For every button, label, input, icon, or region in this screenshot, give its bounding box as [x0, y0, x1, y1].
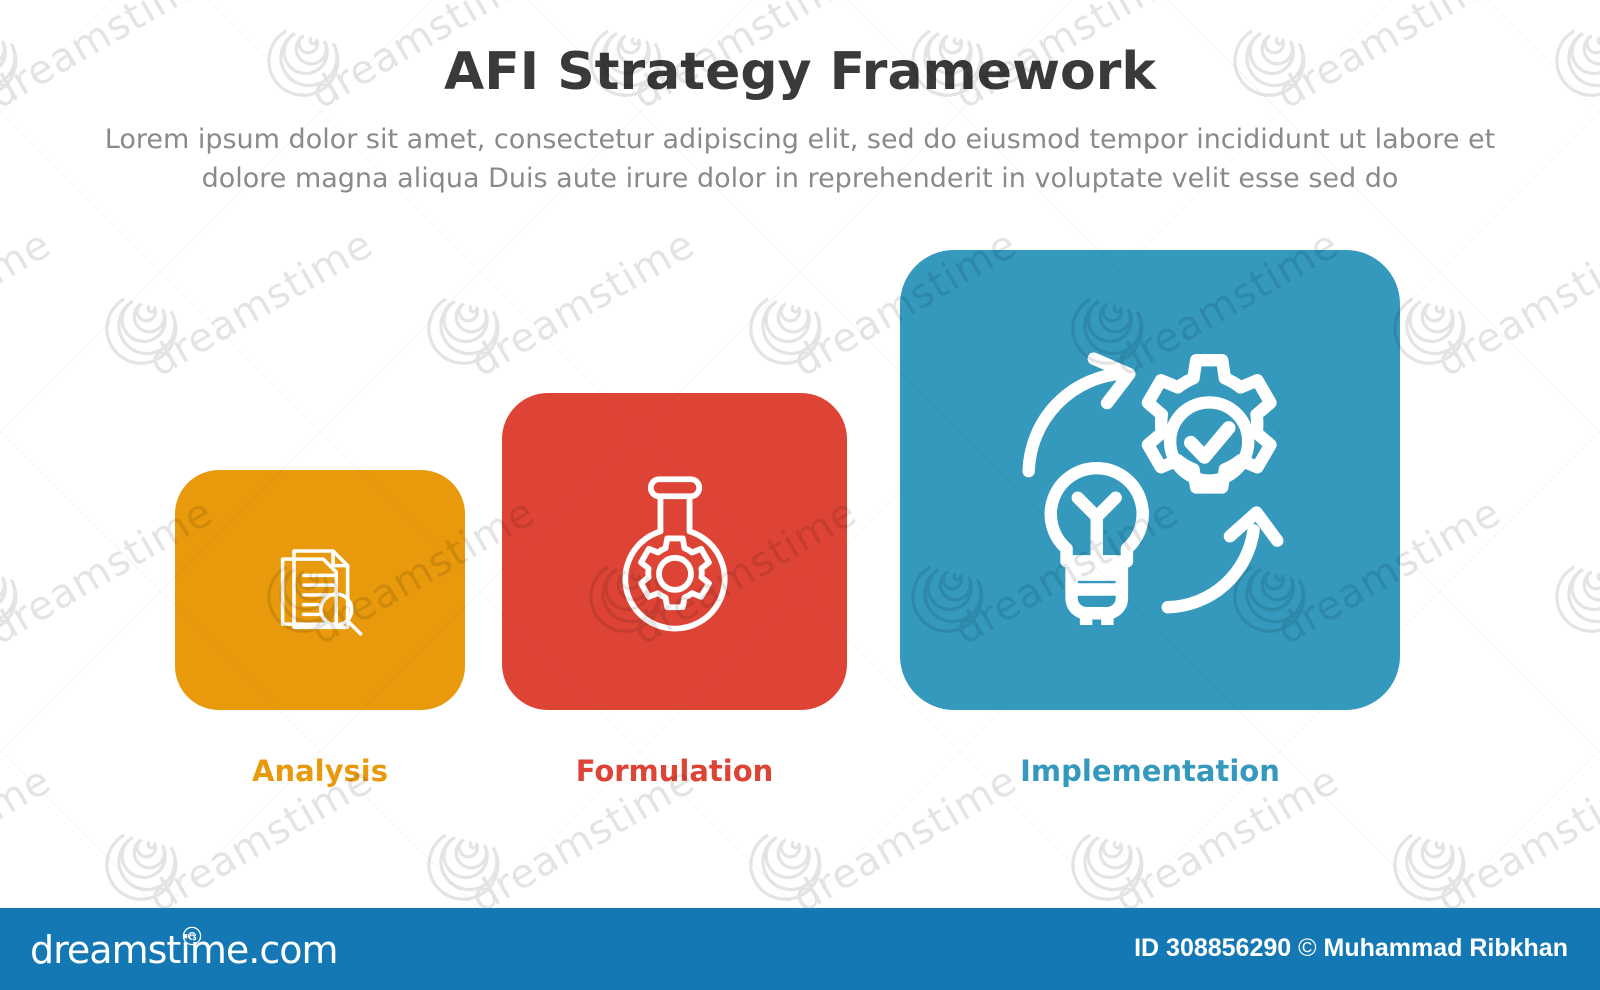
- document-magnifier-icon: [268, 538, 372, 642]
- step-implementation-box[interactable]: [900, 250, 1400, 710]
- step-analysis-label: Analysis: [175, 754, 465, 788]
- credit-line: ID 308856290 © Muhammad Ribkhan: [1134, 934, 1568, 963]
- footer-bar: dreamstime.com ID 308856290 © Muhammad R…: [0, 908, 1600, 990]
- step-implementation-label: Implementation: [900, 754, 1400, 788]
- copyright-icon: ©: [1298, 934, 1316, 962]
- infographic-canvas: AFI Strategy Framework Lorem ipsum dolor…: [0, 0, 1600, 990]
- dreamstime-logo[interactable]: dreamstime.com: [30, 924, 337, 976]
- flask-gear-icon: [607, 472, 743, 632]
- step-analysis-box[interactable]: [175, 470, 465, 710]
- credit-id: ID 308856290: [1134, 934, 1291, 962]
- header: AFI Strategy Framework Lorem ipsum dolor…: [0, 0, 1600, 198]
- step-formulation-label: Formulation: [502, 754, 847, 788]
- spiral-registered-icon: [182, 926, 202, 946]
- page-title: AFI Strategy Framework: [0, 0, 1600, 102]
- credit-author: Muhammad Ribkhan: [1324, 934, 1568, 962]
- lightbulb-gear-cycle-icon: [1000, 335, 1300, 625]
- step-implementation[interactable]: Implementation: [900, 250, 1400, 815]
- step-analysis[interactable]: Analysis: [175, 470, 465, 810]
- page-subtitle: Lorem ipsum dolor sit amet, consectetur …: [90, 102, 1510, 198]
- steps-container: Analysis: [0, 230, 1600, 830]
- step-formulation-box[interactable]: [502, 393, 847, 710]
- step-formulation[interactable]: Formulation: [502, 393, 847, 813]
